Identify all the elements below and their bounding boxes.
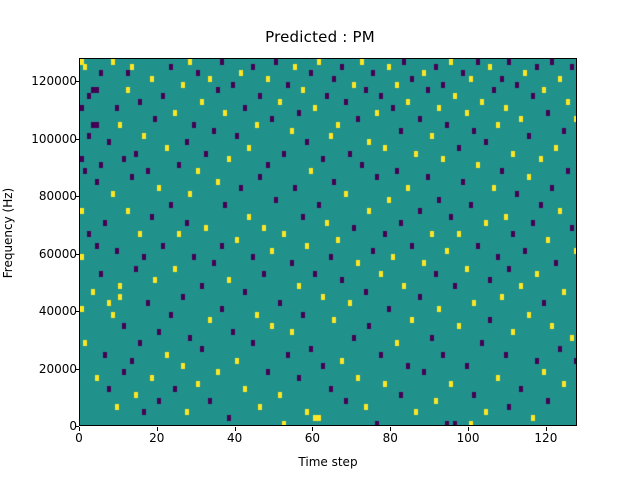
x-tick-mark <box>546 427 547 431</box>
y-tick-label: 100000 <box>0 132 77 146</box>
x-axis-label: Time step <box>79 455 577 469</box>
y-tick-label: 20000 <box>0 362 77 376</box>
y-tick-label: 80000 <box>0 189 77 203</box>
heatmap-canvas[interactable] <box>80 59 577 426</box>
x-tick-mark <box>468 427 469 431</box>
heatmap-plot-area[interactable] <box>79 58 577 426</box>
x-tick-label: 120 <box>516 431 576 445</box>
x-tick-mark <box>79 427 80 431</box>
x-tick-label: 40 <box>205 431 265 445</box>
y-tick-label: 40000 <box>0 304 77 318</box>
y-tick-mark <box>75 311 79 312</box>
x-tick-label: 0 <box>49 431 109 445</box>
x-tick-label: 20 <box>127 431 187 445</box>
y-tick-label: 60000 <box>0 247 77 261</box>
y-tick-mark <box>75 369 79 370</box>
x-tick-label: 80 <box>360 431 420 445</box>
matplotlib-figure: Predicted : PM Frequency (Hz) Time step … <box>0 0 640 480</box>
y-tick-mark <box>75 196 79 197</box>
y-tick-label: 120000 <box>0 74 77 88</box>
page-title: Predicted : PM <box>0 28 640 46</box>
y-tick-mark <box>75 139 79 140</box>
y-tick-mark <box>75 254 79 255</box>
x-tick-mark <box>157 427 158 431</box>
x-tick-label: 60 <box>282 431 342 445</box>
x-tick-mark <box>312 427 313 431</box>
x-tick-mark <box>235 427 236 431</box>
x-tick-mark <box>390 427 391 431</box>
y-tick-mark <box>75 81 79 82</box>
x-tick-label: 100 <box>438 431 498 445</box>
